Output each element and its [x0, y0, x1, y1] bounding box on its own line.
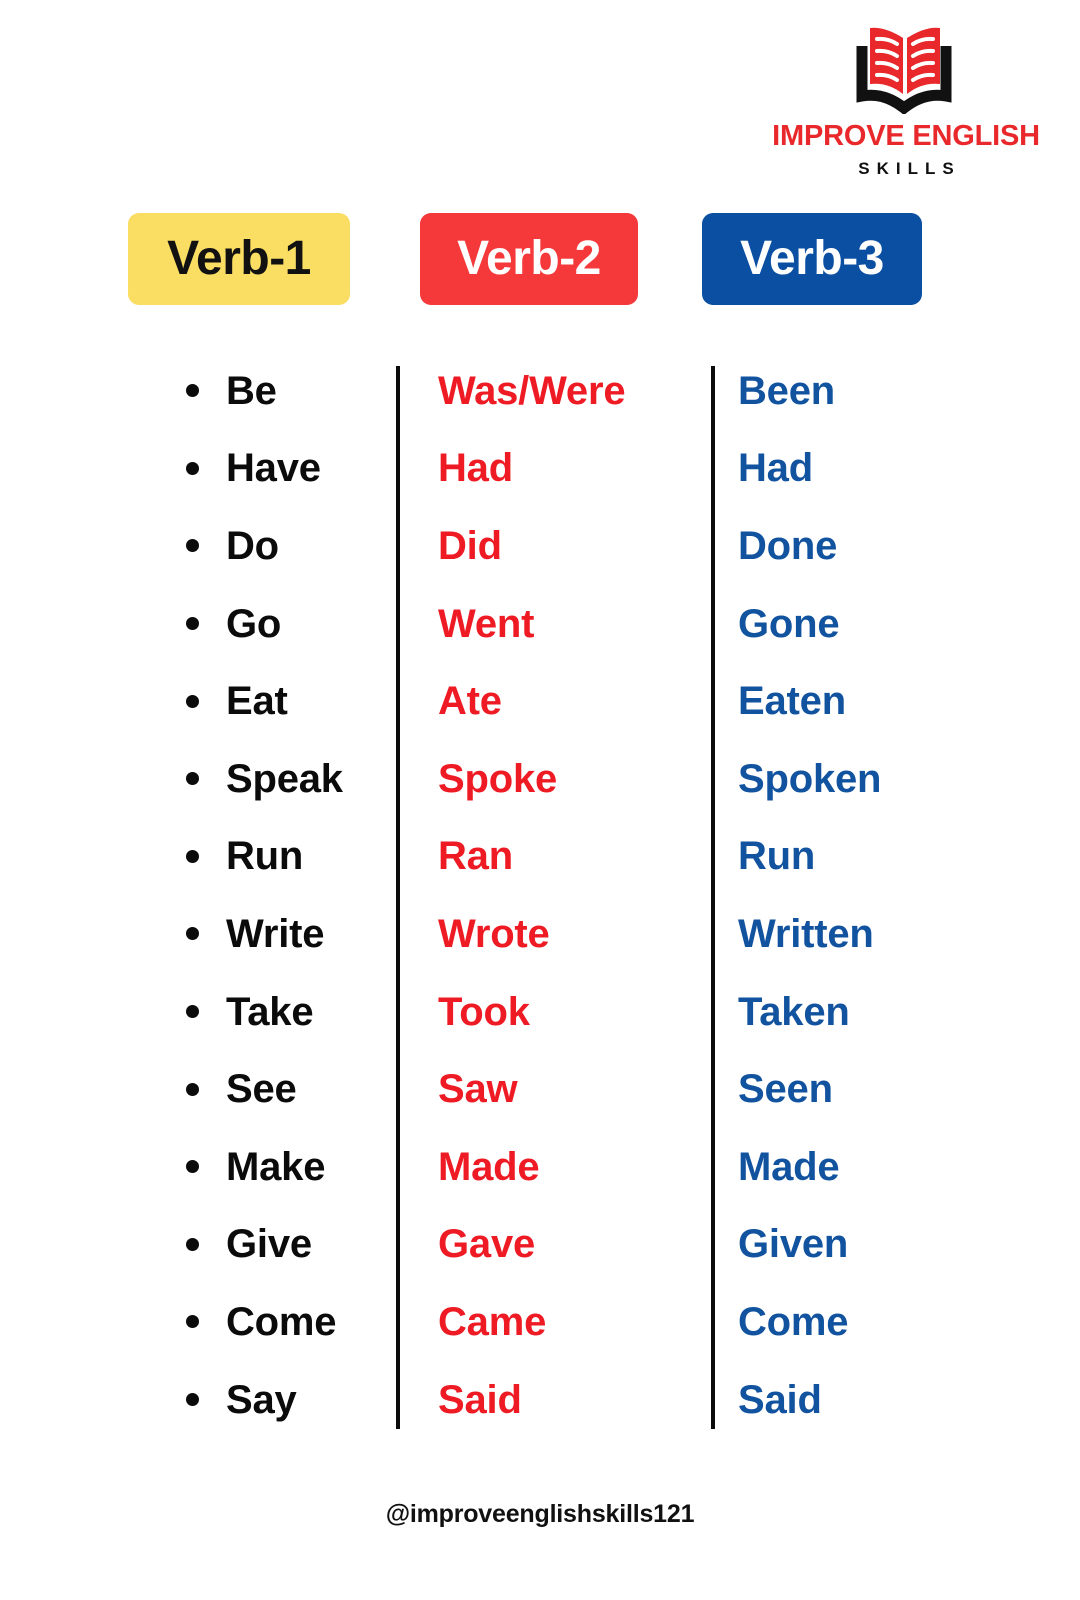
verb-2-label: Ate: [438, 681, 502, 721]
verb-1-cell: See: [186, 1050, 386, 1128]
verb-3-cell: Seen: [738, 1050, 1018, 1128]
verb-2-label: Gave: [438, 1224, 535, 1264]
bullet-icon: [186, 1160, 199, 1173]
verb-1-cell: Come: [186, 1283, 386, 1361]
footer-handle: @improveenglishskills121: [0, 1500, 1080, 1529]
verb-2-cell: Wrote: [438, 895, 708, 973]
verb-3-label: Had: [738, 448, 813, 488]
column-headers: Verb-1 Verb-2 Verb-3: [0, 213, 1080, 309]
verb-2-cell: Saw: [438, 1050, 708, 1128]
table-row: RunRanRun: [0, 818, 1080, 896]
column-header-verb-2: Verb-2: [420, 213, 638, 305]
table-row: EatAteEaten: [0, 662, 1080, 740]
verb-2-label: Wrote: [438, 914, 550, 954]
bullet-icon: [186, 927, 199, 940]
verb-3-label: Been: [738, 371, 835, 411]
bullet-icon: [186, 1393, 199, 1406]
verb-3-cell: Written: [738, 895, 1018, 973]
verb-2-cell: Said: [438, 1361, 708, 1439]
verb-2-label: Went: [438, 604, 534, 644]
verb-1-cell: Say: [186, 1361, 386, 1439]
verb-2-cell: Took: [438, 973, 708, 1051]
verb-2-cell: Ate: [438, 662, 708, 740]
verb-3-cell: Given: [738, 1206, 1018, 1284]
verb-3-cell: Had: [738, 430, 1018, 508]
table-row: TakeTookTaken: [0, 973, 1080, 1051]
verb-1-label: Eat: [226, 681, 288, 721]
verb-3-label: Eaten: [738, 681, 846, 721]
verb-2-label: Had: [438, 448, 513, 488]
verb-2-cell: Had: [438, 430, 708, 508]
verb-1-label: Write: [226, 914, 324, 954]
verb-3-cell: Gone: [738, 585, 1018, 663]
verb-1-cell: Write: [186, 895, 386, 973]
verb-3-cell: Said: [738, 1361, 1018, 1439]
verb-1-label: Take: [226, 992, 313, 1032]
table-row: SpeakSpokeSpoken: [0, 740, 1080, 818]
verb-1-label: Have: [226, 448, 321, 488]
verb-forms-table: BeWas/WereBeenHaveHadHadDoDidDoneGoWentG…: [0, 352, 1080, 1438]
table-row: SaySaidSaid: [0, 1361, 1080, 1439]
bullet-icon: [186, 462, 199, 475]
verb-1-label: Give: [226, 1224, 312, 1264]
verb-1-cell: Go: [186, 585, 386, 663]
verb-1-cell: Give: [186, 1206, 386, 1284]
brand-logo-block: IMPROVE ENGLISH SKILLS: [770, 22, 1042, 177]
verb-3-label: Taken: [738, 992, 850, 1032]
verb-1-label: Go: [226, 604, 281, 644]
verb-1-cell: Run: [186, 818, 386, 896]
verb-2-label: Saw: [438, 1069, 517, 1109]
verb-1-label: Be: [226, 371, 277, 411]
verb-2-cell: Did: [438, 507, 708, 585]
table-row: BeWas/WereBeen: [0, 352, 1080, 430]
bullet-icon: [186, 384, 199, 397]
verb-1-cell: Speak: [186, 740, 386, 818]
verb-2-cell: Came: [438, 1283, 708, 1361]
open-book-icon: [846, 22, 966, 114]
verb-1-cell: Eat: [186, 662, 386, 740]
verb-2-label: Did: [438, 526, 502, 566]
bullet-icon: [186, 695, 199, 708]
verb-3-label: Made: [738, 1147, 839, 1187]
verb-3-cell: Run: [738, 818, 1018, 896]
verb-1-cell: Take: [186, 973, 386, 1051]
verb-3-cell: Made: [738, 1128, 1018, 1206]
verb-2-cell: Ran: [438, 818, 708, 896]
table-row: GoWentGone: [0, 585, 1080, 663]
bullet-icon: [186, 539, 199, 552]
verb-1-label: Say: [226, 1380, 297, 1420]
verb-3-label: Run: [738, 836, 815, 876]
bullet-icon: [186, 1005, 199, 1018]
verb-3-label: Done: [738, 526, 837, 566]
verb-1-label: Run: [226, 836, 303, 876]
bullet-icon: [186, 850, 199, 863]
bullet-icon: [186, 772, 199, 785]
bullet-icon: [186, 1083, 199, 1096]
verb-3-cell: Taken: [738, 973, 1018, 1051]
verb-1-label: Make: [226, 1147, 325, 1187]
table-row: SeeSawSeen: [0, 1050, 1080, 1128]
verb-1-label: Come: [226, 1302, 336, 1342]
verb-2-label: Spoke: [438, 759, 557, 799]
column-header-verb-3: Verb-3: [702, 213, 922, 305]
table-row: HaveHadHad: [0, 430, 1080, 508]
table-row: GiveGaveGiven: [0, 1206, 1080, 1284]
verb-2-label: Came: [438, 1302, 546, 1342]
verb-3-label: Gone: [738, 604, 839, 644]
verb-1-label: Do: [226, 526, 279, 566]
verb-3-cell: Spoken: [738, 740, 1018, 818]
verb-2-cell: Was/Were: [438, 352, 708, 430]
verb-1-label: Speak: [226, 759, 343, 799]
verb-3-label: Spoken: [738, 759, 881, 799]
verb-3-cell: Been: [738, 352, 1018, 430]
verb-1-cell: Do: [186, 507, 386, 585]
verb-3-cell: Eaten: [738, 662, 1018, 740]
brand-subtitle: SKILLS: [851, 160, 960, 177]
verb-2-cell: Spoke: [438, 740, 708, 818]
column-header-verb-1: Verb-1: [128, 213, 350, 305]
brand-name: IMPROVE ENGLISH: [772, 122, 1040, 151]
verb-1-cell: Make: [186, 1128, 386, 1206]
verb-3-label: Said: [738, 1380, 822, 1420]
verb-3-cell: Come: [738, 1283, 1018, 1361]
table-row: WriteWroteWritten: [0, 895, 1080, 973]
verb-3-label: Come: [738, 1302, 848, 1342]
bullet-icon: [186, 1315, 199, 1328]
verb-2-label: Took: [438, 992, 530, 1032]
bullet-icon: [186, 617, 199, 630]
verb-2-cell: Went: [438, 585, 708, 663]
table-row: MakeMadeMade: [0, 1128, 1080, 1206]
verb-3-label: Given: [738, 1224, 848, 1264]
verb-1-cell: Be: [186, 352, 386, 430]
verb-2-label: Said: [438, 1380, 522, 1420]
verb-2-label: Ran: [438, 836, 513, 876]
bullet-icon: [186, 1238, 199, 1251]
verb-2-cell: Made: [438, 1128, 708, 1206]
verb-2-label: Was/Were: [438, 371, 625, 411]
verb-1-label: See: [226, 1069, 297, 1109]
verb-3-label: Written: [738, 914, 874, 954]
table-row: DoDidDone: [0, 507, 1080, 585]
table-row: ComeCameCome: [0, 1283, 1080, 1361]
verb-3-cell: Done: [738, 507, 1018, 585]
verb-2-cell: Gave: [438, 1206, 708, 1284]
verb-3-label: Seen: [738, 1069, 833, 1109]
verb-1-cell: Have: [186, 430, 386, 508]
verb-2-label: Made: [438, 1147, 539, 1187]
